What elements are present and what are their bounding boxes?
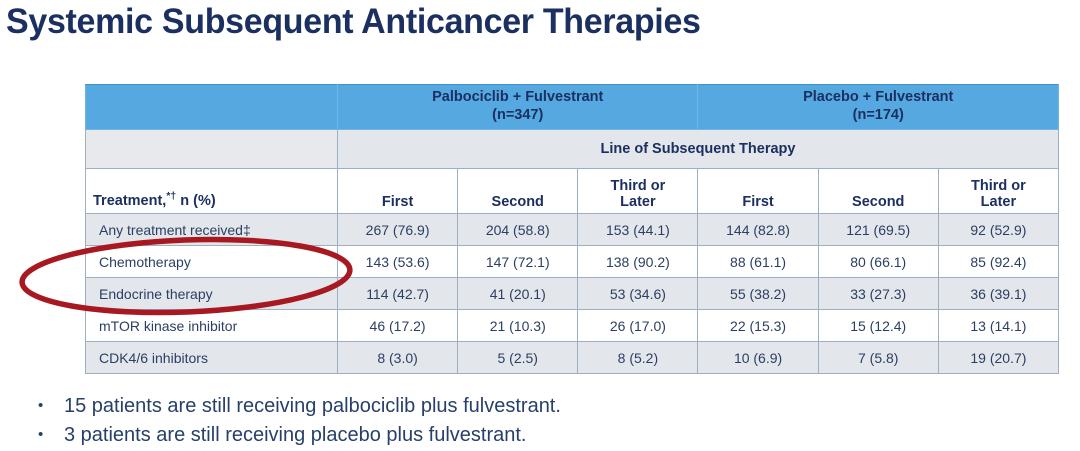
group-n-palbociclib: (n=347) — [338, 107, 697, 125]
table-body: Any treatment received‡ 267 (76.9) 204 (… — [86, 214, 1059, 374]
cell-endo-placebo-first: 55 (38.2) — [698, 278, 818, 310]
table-row: Chemotherapy 143 (53.6) 147 (72.1) 138 (… — [86, 246, 1059, 278]
line-of-therapy-band-row: Line of Subsequent Therapy — [86, 130, 1059, 169]
page-title: Systemic Subsequent Anticancer Therapies — [6, 2, 701, 42]
row-label-endocrine-therapy: Endocrine therapy — [86, 278, 338, 310]
slide-canvas: Systemic Subsequent Anticancer Therapies… — [0, 0, 1080, 451]
cell-any-placebo-first: 144 (82.8) — [698, 214, 818, 246]
cell-endo-placebo-second: 33 (27.3) — [818, 278, 938, 310]
subheader-palbo-second-l1: Second — [492, 194, 544, 210]
treatment-column-header-text: Treatment,*† n (%) — [93, 193, 216, 209]
table-row: mTOR kinase inhibitor 46 (17.2) 21 (10.3… — [86, 310, 1059, 342]
cell-cdk-palbo-third: 8 (5.2) — [578, 342, 698, 374]
group-header-palbociclib: Palbociclib + Fulvestrant (n=347) — [338, 85, 698, 130]
cell-cdk-placebo-second: 7 (5.8) — [818, 342, 938, 374]
bullet-text-palbociclib: 15 patients are still receiving palbocic… — [64, 392, 938, 420]
table-row: Any treatment received‡ 267 (76.9) 204 (… — [86, 214, 1059, 246]
subheader-palbo-first-l1: First — [382, 194, 413, 210]
cell-any-placebo-third: 92 (52.9) — [938, 214, 1058, 246]
bullet-marker-icon: • — [38, 421, 64, 449]
treatment-column-header: Treatment,*† n (%) — [86, 169, 338, 214]
therapy-table-container: Palbociclib + Fulvestrant (n=347) Placeb… — [85, 84, 1058, 374]
subheader-palbo-second: Second — [458, 169, 578, 214]
subheader-placebo-third-l2: Later — [939, 194, 1058, 210]
cell-chemo-placebo-first: 88 (61.1) — [698, 246, 818, 278]
cell-chemo-palbo-second: 147 (72.1) — [458, 246, 578, 278]
cell-mtor-palbo-first: 46 (17.2) — [338, 310, 458, 342]
cell-endo-palbo-first: 114 (42.7) — [338, 278, 458, 310]
cell-any-palbo-first: 267 (76.9) — [338, 214, 458, 246]
group-header-placebo: Placebo + Fulvestrant (n=174) — [698, 85, 1059, 130]
cell-chemo-placebo-second: 80 (66.1) — [818, 246, 938, 278]
table-head: Palbociclib + Fulvestrant (n=347) Placeb… — [86, 85, 1059, 214]
group-name-placebo: Placebo + Fulvestrant — [803, 89, 953, 105]
cell-mtor-placebo-second: 15 (12.4) — [818, 310, 938, 342]
cell-cdk-palbo-first: 8 (3.0) — [338, 342, 458, 374]
subheader-palbo-third-l1: Third or — [611, 178, 666, 194]
cell-mtor-palbo-third: 26 (17.0) — [578, 310, 698, 342]
cell-any-palbo-third: 153 (44.1) — [578, 214, 698, 246]
line-of-subsequent-therapy-label: Line of Subsequent Therapy — [338, 130, 1059, 169]
cell-endo-palbo-third: 53 (34.6) — [578, 278, 698, 310]
row-label-cdk46-inhibitors: CDK4/6 inhibitors — [86, 342, 338, 374]
cell-endo-palbo-second: 41 (20.1) — [458, 278, 578, 310]
cell-any-palbo-second: 204 (58.8) — [458, 214, 578, 246]
table-row: CDK4/6 inhibitors 8 (3.0) 5 (2.5) 8 (5.2… — [86, 342, 1059, 374]
column-subheader-row: Treatment,*† n (%) First Second Third or… — [86, 169, 1059, 214]
cell-chemo-palbo-first: 143 (53.6) — [338, 246, 458, 278]
bullet-text-placebo: 3 patients are still receiving placebo p… — [64, 421, 938, 449]
subheader-placebo-third-or-later: Third or Later — [938, 169, 1058, 214]
subheader-placebo-first: First — [698, 169, 818, 214]
cell-cdk-placebo-first: 10 (6.9) — [698, 342, 818, 374]
cell-mtor-placebo-first: 22 (15.3) — [698, 310, 818, 342]
subheader-palbo-third-or-later: Third or Later — [578, 169, 698, 214]
cell-mtor-placebo-third: 13 (14.1) — [938, 310, 1058, 342]
footnote-bullet-list: • 15 patients are still receiving palboc… — [38, 392, 938, 451]
subheader-palbo-first: First — [338, 169, 458, 214]
cell-chemo-palbo-third: 138 (90.2) — [578, 246, 698, 278]
group-header-corner-cell — [86, 85, 338, 130]
cell-any-placebo-second: 121 (69.5) — [818, 214, 938, 246]
row-label-chemotherapy: Chemotherapy — [86, 246, 338, 278]
list-item: • 15 patients are still receiving palboc… — [38, 392, 938, 420]
row-label-mtor-kinase-inhibitor: mTOR kinase inhibitor — [86, 310, 338, 342]
subheader-palbo-third-l2: Later — [578, 194, 697, 210]
subheader-placebo-first-l1: First — [742, 194, 773, 210]
table-row: Endocrine therapy 114 (42.7) 41 (20.1) 5… — [86, 278, 1059, 310]
cell-mtor-palbo-second: 21 (10.3) — [458, 310, 578, 342]
list-item: • 3 patients are still receiving placebo… — [38, 421, 938, 449]
cell-endo-placebo-third: 36 (39.1) — [938, 278, 1058, 310]
subheader-placebo-second-l1: Second — [852, 194, 904, 210]
subheader-placebo-second: Second — [818, 169, 938, 214]
cell-chemo-placebo-third: 85 (92.4) — [938, 246, 1058, 278]
subsequent-therapy-table: Palbociclib + Fulvestrant (n=347) Placeb… — [85, 84, 1059, 374]
group-header-row: Palbociclib + Fulvestrant (n=347) Placeb… — [86, 85, 1059, 130]
band-blank-cell — [86, 130, 338, 169]
group-name-palbociclib: Palbociclib + Fulvestrant — [432, 89, 603, 105]
row-label-any-treatment-received: Any treatment received‡ — [86, 214, 338, 246]
group-n-placebo: (n=174) — [698, 107, 1058, 125]
bullet-marker-icon: • — [38, 392, 64, 420]
subheader-placebo-third-l1: Third or — [971, 178, 1026, 194]
cell-cdk-placebo-third: 19 (20.7) — [938, 342, 1058, 374]
cell-cdk-palbo-second: 5 (2.5) — [458, 342, 578, 374]
